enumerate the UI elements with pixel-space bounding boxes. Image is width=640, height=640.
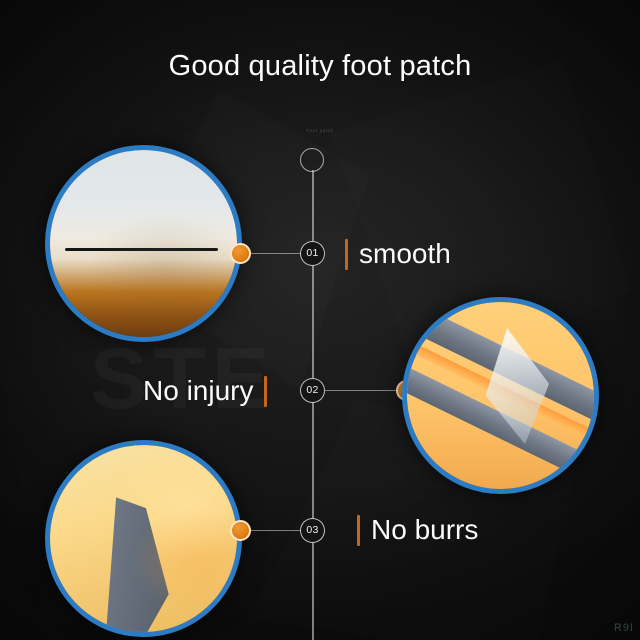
photo-circle-step-02: [402, 297, 599, 494]
accent-bar-icon: [345, 239, 348, 270]
connector-dot-step-03: [230, 520, 251, 541]
accent-bar-icon: [357, 515, 360, 546]
feature-text-no-burrs: No burrs: [371, 514, 478, 546]
micro-subtitle: Foot patch: [0, 128, 640, 133]
photo-detail-glow: [50, 445, 237, 632]
photo-detail-haze: [50, 150, 237, 337]
infographic-canvas: STE Good quality foot patch Foot patch 0…: [0, 0, 640, 640]
step-badge-01: 01: [300, 241, 325, 266]
corner-watermark: R9I: [614, 622, 634, 634]
step-badge-02: 02: [300, 378, 325, 403]
connector-dot-step-01: [230, 243, 251, 264]
photo-circle-step-01: [45, 145, 242, 342]
connector-line-step-01: [245, 253, 302, 254]
accent-bar-icon: [264, 376, 267, 407]
page-title: Good quality foot patch: [0, 50, 640, 83]
step-badge-03: 03: [300, 518, 325, 543]
photo-circle-step-03: [45, 440, 242, 637]
feature-label-step-02: No injury: [143, 375, 267, 407]
connector-line-step-03: [245, 530, 302, 531]
connector-line-step-02: [325, 390, 403, 391]
feature-text-no-injury: No injury: [143, 375, 253, 407]
feature-text-smooth: smooth: [359, 238, 451, 270]
feature-label-step-01: smooth: [345, 238, 451, 270]
timeline-top-cap-icon: [300, 148, 324, 172]
feature-label-step-03: No burrs: [357, 514, 478, 546]
